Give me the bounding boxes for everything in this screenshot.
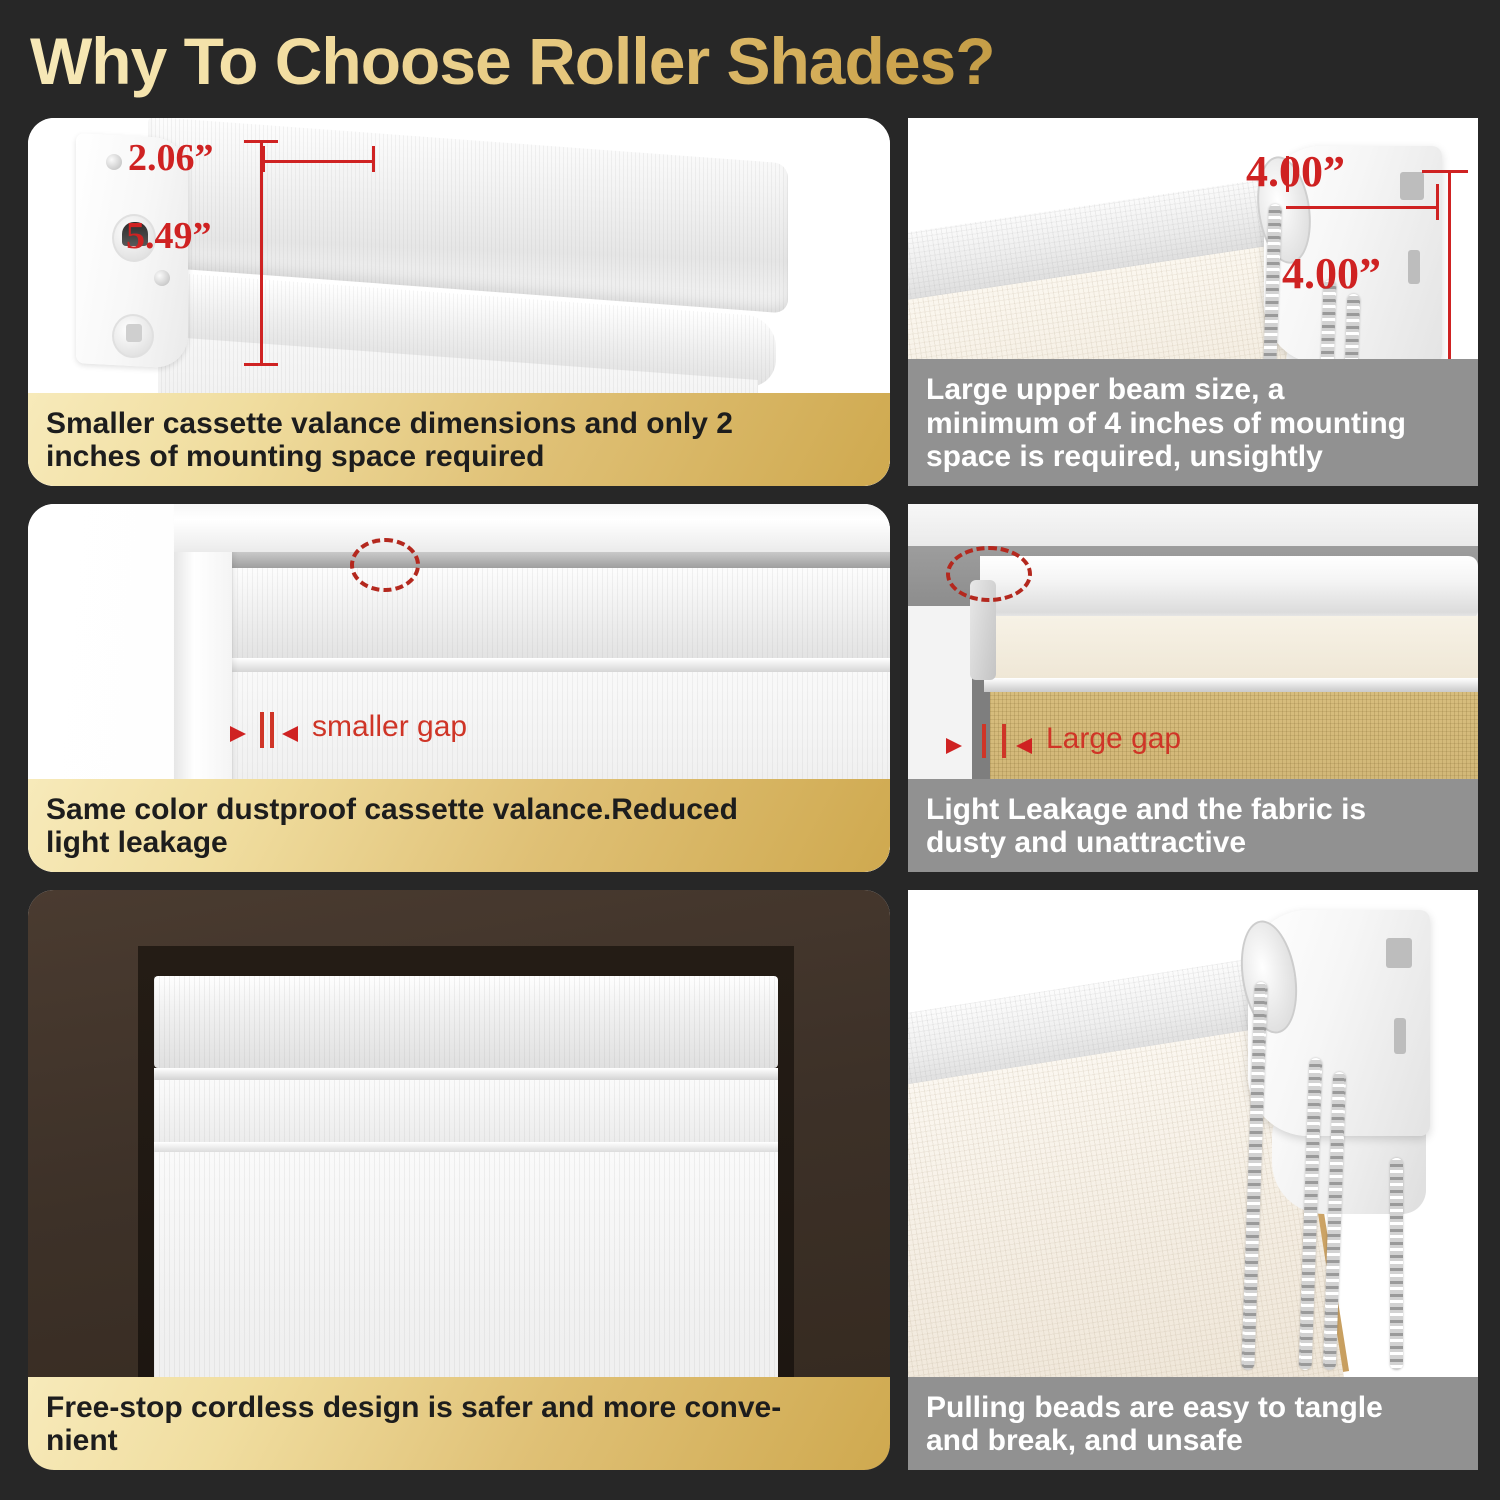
gap-arrow-right [1016,738,1032,754]
panel-1-caption: Smaller cassette valance dimensions and … [28,393,890,486]
beam-height-tick-top [1422,170,1468,173]
height-dimension-line [260,140,263,366]
panel-3-caption: Same color dustproof cassette valance.Re… [28,779,890,872]
panel-6-caption: Pulling beads are easy to tangle and bre… [908,1377,1478,1470]
page-title: Why To Choose Roller Shades? [30,22,1130,100]
cassette-valance [232,552,890,568]
roller-shades-comparison-infographic: Why To Choose Roller Shades? 5.49” 2.06”… [0,0,1500,1500]
height-dimension-label: 5.49” [126,214,212,258]
caption-line: Pulling beads are easy to tangle [926,1391,1462,1425]
panel-4-caption: Light Leakage and the fabric is dusty an… [908,779,1478,872]
panel-smaller-cassette-valance: 5.49” 2.06” Smaller cassette valance dim… [28,118,890,486]
beam-width-tick-right [1436,184,1439,220]
caption-line: and break, and unsafe [926,1424,1462,1458]
bead-chain [1390,1158,1403,1370]
gap-tick-left [260,712,264,748]
large-gap-label: Large gap [1046,722,1181,756]
panel-free-stop-cordless-design: Free-stop cordless design is safer and m… [28,890,890,1470]
beam-height-label: 4.00” [1282,248,1381,299]
gap-arrow-left [946,738,962,754]
smaller-gap-label: smaller gap [312,710,467,744]
caption-line: nient [46,1424,874,1458]
caption-line: dusty and unattractive [926,826,1462,860]
bracket-slot [1394,1018,1406,1054]
width-dimension-tick-left [262,146,265,172]
bracket-slot [1408,250,1420,284]
caption-line: light leakage [46,826,874,860]
gap-arrow-right [282,726,298,742]
highlight-dashed-circle [946,546,1032,602]
caption-line: Large upper beam size, a [926,373,1462,407]
roller-tube [980,556,1478,620]
caption-line: Smaller cassette valance dimensions and … [46,407,874,441]
panel-pulling-beads-unsafe: Pulling beads are easy to tangle and bre… [908,890,1478,1470]
caption-line: space is required, unsightly [926,440,1462,474]
height-dimension-tick-top [244,140,278,143]
screw-icon [154,270,170,286]
caption-line: Same color dustproof cassette valance.Re… [46,793,874,827]
caption-line: minimum of 4 inches of mounting [926,407,1462,441]
highlight-dashed-circle [350,538,420,592]
panel-light-leakage-dusty-fabric: Large gap Light Leakage and the fabric i… [908,504,1478,872]
width-dimension-tick-right [372,146,375,172]
screw-icon [106,154,122,170]
window-frame-header [174,504,890,552]
gap-tick-right [1002,724,1006,758]
beam-height-dimension-line [1448,170,1451,368]
gap-tick-left [982,724,986,758]
beam-width-dimension-line [1286,206,1438,209]
caption-line: Light Leakage and the fabric is [926,793,1462,827]
gap-arrow-left [230,726,246,742]
panel-large-upper-beam: 4.00” 4.00” Large upper beam size, a min… [908,118,1478,486]
width-dimension-line [262,160,374,163]
cassette-valance-head [154,976,778,1068]
panel-5-caption: Free-stop cordless design is safer and m… [28,1377,890,1470]
height-dimension-tick-bottom [244,363,278,366]
width-dimension-label: 2.06” [128,136,214,180]
beam-width-label: 4.00” [1246,146,1345,197]
bracket-slot [1400,172,1424,200]
bracket-slot [1386,938,1412,968]
caption-line: inches of mounting space required [46,440,874,474]
panel-2-caption: Large upper beam size, a minimum of 4 in… [908,359,1478,486]
caption-line: Free-stop cordless design is safer and m… [46,1391,874,1425]
valance-knob-lower [112,314,154,358]
gap-tick-right [270,712,274,748]
panel-same-color-dustproof-valance: smaller gap Same color dustproof cassett… [28,504,890,872]
